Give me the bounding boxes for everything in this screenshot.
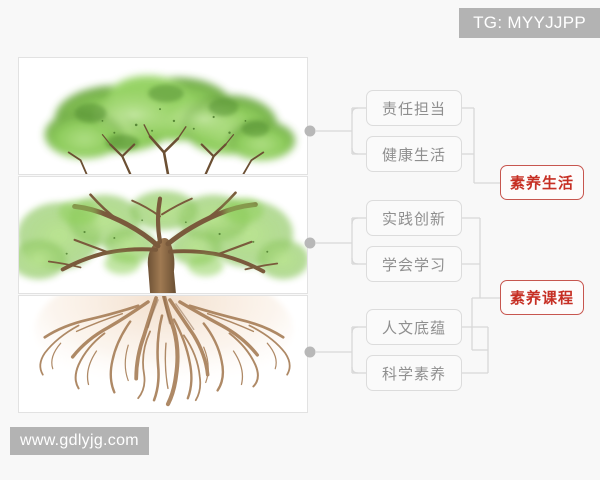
watermark-top-right: TG: MYYJJPP — [459, 8, 600, 38]
node-responsibility[interactable]: 责任担当 — [366, 90, 462, 126]
trunk-illustration — [19, 177, 307, 293]
watermark-bottom-left: www.gdlyjg.com — [10, 427, 149, 455]
node-humanistic-foundation[interactable]: 人文底蕴 — [366, 309, 462, 345]
diagram-canvas: 责任担当 健康生活 实践创新 学会学习 人文底蕴 科学素养 素养生活 素养课程 … — [0, 0, 600, 480]
tree-panel-roots — [18, 295, 308, 413]
roots-illustration — [19, 296, 307, 412]
tree-panel-canopy — [18, 57, 308, 175]
node-scientific-literacy[interactable]: 科学素养 — [366, 355, 462, 391]
node-learn-to-learn[interactable]: 学会学习 — [366, 246, 462, 282]
node-practice-innovation[interactable]: 实践创新 — [366, 200, 462, 236]
node-healthy-living[interactable]: 健康生活 — [366, 136, 462, 172]
category-literacy-life[interactable]: 素养生活 — [500, 165, 584, 200]
canopy-illustration — [19, 58, 307, 174]
tree-panel-trunk — [18, 176, 308, 294]
category-literacy-curriculum[interactable]: 素养课程 — [500, 280, 584, 315]
